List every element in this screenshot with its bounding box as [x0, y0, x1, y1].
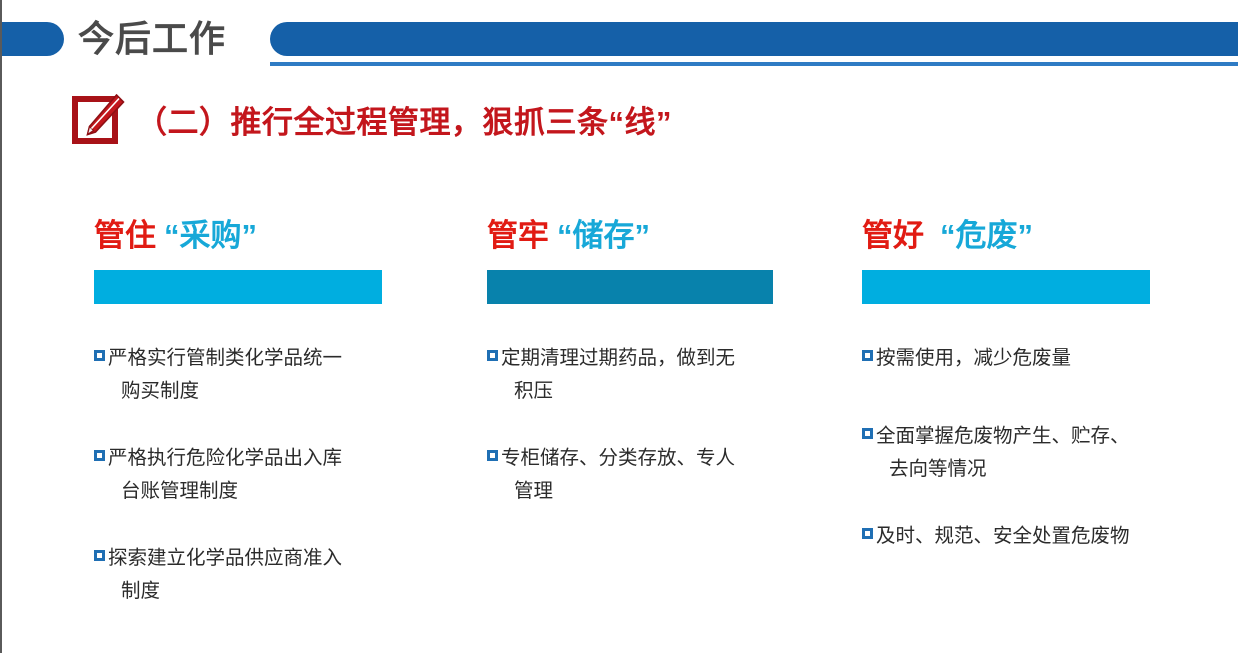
column-heading: 管住 “采购”: [94, 208, 394, 264]
list-item-text: 按需使用，减少危废量: [876, 342, 1071, 375]
square-bullet-icon: [862, 528, 873, 539]
column-procurement: 管住 “采购” 严格实行管制类化学品统一购买制度 严格执行危险化学品出入库台账管…: [94, 208, 394, 642]
list-item: 严格执行危险化学品出入库台账管理制度: [94, 442, 394, 508]
list-item: 严格实行管制类化学品统一购买制度: [94, 342, 394, 408]
list-item: 按需使用，减少危废量: [862, 342, 1162, 375]
column-heading-keyword: “储存”: [557, 215, 650, 257]
list-item-text: 专柜储存、分类存放、专人管理: [501, 442, 735, 508]
list-item: 定期清理过期药品，做到无积压: [487, 342, 787, 408]
list-item-text: 及时、规范、安全处置危废物: [876, 520, 1130, 553]
column-heading: 管好 “危废”: [862, 208, 1162, 264]
header-underline-decoration: [270, 62, 1238, 66]
list-item-text: 严格实行管制类化学品统一购买制度: [108, 342, 342, 408]
column-heading-keyword: “危废”: [940, 215, 1033, 257]
column-accent-bar: [487, 270, 773, 304]
slide-canvas: 今后工作 （二）推行全过程管理，狠抓三条“线” 管住 “采购”: [0, 0, 1238, 653]
list-item: 专柜储存、分类存放、专人管理: [487, 442, 787, 508]
column-heading: 管牢 “储存”: [487, 208, 787, 264]
column-heading-action: 管牢: [487, 215, 549, 257]
slide-header: 今后工作: [2, 0, 1238, 80]
square-bullet-icon: [862, 350, 873, 361]
square-bullet-icon: [94, 350, 105, 361]
section-subtitle-text: （二）推行全过程管理，狠抓三条“线”: [136, 97, 672, 142]
square-bullet-icon: [94, 550, 105, 561]
edit-pencil-square-icon: [72, 93, 126, 145]
square-bullet-icon: [487, 450, 498, 461]
square-bullet-icon: [94, 450, 105, 461]
column-bullet-list: 定期清理过期药品，做到无积压 专柜储存、分类存放、专人管理: [487, 342, 787, 508]
column-bullet-list: 按需使用，减少危废量 全面掌握危废物产生、贮存、去向等情况 及时、规范、安全处置…: [862, 342, 1162, 553]
page-title: 今后工作: [78, 17, 226, 61]
column-heading-action: 管好: [862, 215, 924, 257]
header-blue-bar-decoration: [270, 22, 1238, 56]
column-storage: 管牢 “储存” 定期清理过期药品，做到无积压 专柜储存、分类存放、专人管理: [487, 208, 787, 542]
square-bullet-icon: [862, 428, 873, 439]
column-bullet-list: 严格实行管制类化学品统一购买制度 严格执行危险化学品出入库台账管理制度 探索建立…: [94, 342, 394, 608]
list-item: 探索建立化学品供应商准入制度: [94, 542, 394, 608]
square-bullet-icon: [487, 350, 498, 361]
list-item: 及时、规范、安全处置危废物: [862, 520, 1162, 553]
header-left-pill-decoration: [0, 22, 64, 56]
list-item-text: 严格执行危险化学品出入库台账管理制度: [108, 442, 342, 508]
list-item: 全面掌握危废物产生、贮存、去向等情况: [862, 420, 1162, 486]
column-heading-keyword: “采购”: [164, 215, 257, 257]
column-accent-bar: [862, 270, 1150, 304]
column-heading-action: 管住: [94, 215, 156, 257]
list-item-text: 定期清理过期药品，做到无积压: [501, 342, 735, 408]
column-accent-bar: [94, 270, 382, 304]
column-hazardous-waste: 管好 “危废” 按需使用，减少危废量 全面掌握危废物产生、贮存、去向等情况 及时…: [862, 208, 1162, 587]
list-item-text: 全面掌握危废物产生、贮存、去向等情况: [876, 420, 1130, 486]
section-subtitle: （二）推行全过程管理，狠抓三条“线”: [72, 92, 672, 146]
list-item-text: 探索建立化学品供应商准入制度: [108, 542, 342, 608]
